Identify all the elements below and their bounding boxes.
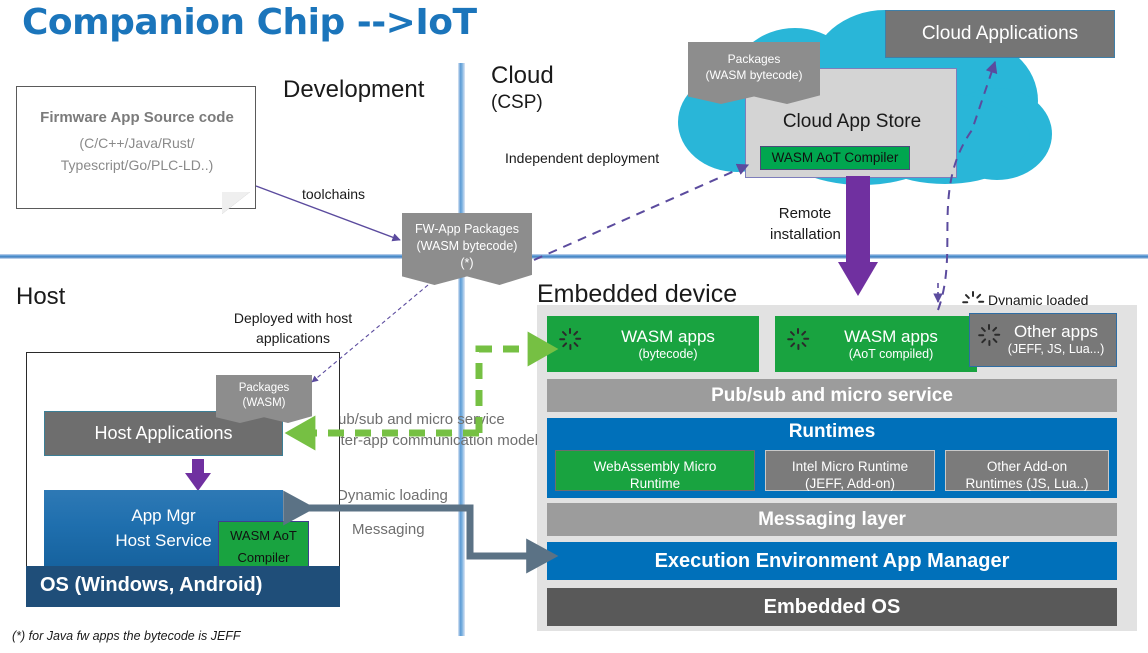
embedded-app-box-2[interactable]: Other apps (JEFF, JS, Lua...) (969, 313, 1117, 367)
section-label-cloud: Cloud (491, 62, 554, 90)
remote-installation-line2: installation (770, 226, 841, 243)
inter-app-communication-label: Inter-app communication models (328, 432, 546, 449)
section-label-cloud-sub: (CSP) (491, 92, 543, 114)
firmware-lang-line1: (C/C++/Java/Rust/ (79, 135, 194, 151)
toolchains-label: toolchains (302, 186, 365, 202)
runtime-1-line1: Intel Micro Runtime (792, 459, 908, 474)
runtime-2-line2: Runtimes (JS, Lua..) (965, 476, 1088, 491)
runtime-box-0[interactable]: WebAssembly Micro Runtime (555, 450, 755, 491)
fw-app-packages-line2: (WASM bytecode) (417, 239, 518, 253)
messaging-label: Messaging (352, 521, 425, 538)
footnote: (*) for Java fw apps the bytecode is JEF… (12, 629, 241, 643)
spinner-icon (787, 328, 809, 350)
section-label-development: Development (283, 76, 424, 104)
app-mgr-line2: Host Service (115, 531, 211, 550)
diagram-canvas: Companion Chip -->IoT Development Cloud … (0, 0, 1148, 653)
horizontal-divider (0, 254, 1148, 259)
host-wasm-aot-compiler-box[interactable]: WASM AoT Compiler (218, 521, 309, 569)
firmware-source-languages: (C/C++/Java/Rust/ Typescript/Go/PLC-LD..… (17, 132, 257, 176)
remote-installation-line1: Remote (779, 205, 832, 222)
spinner-icon (978, 324, 1000, 346)
embedded-device-stack: WASM apps (bytecode) WASM apps (AoT comp… (537, 305, 1137, 631)
cloud-packages-callout: Packages (WASM bytecode) (688, 42, 820, 104)
arrow-shaft (846, 176, 870, 264)
runtime-box-2[interactable]: Other Add-on Runtimes (JS, Lua..) (945, 450, 1109, 491)
host-aot-line1: WASM AoT (230, 528, 297, 543)
page-title: Companion Chip -->IoT (22, 2, 477, 43)
host-packages-line2: (WASM) (242, 397, 285, 409)
runtime-0-line2: Runtime (630, 476, 680, 491)
fw-app-packages-line3: (*) (460, 256, 473, 270)
deployed-line1: Deployed with host (234, 310, 352, 326)
cloud-packages-line2: (WASM bytecode) (706, 68, 803, 82)
vertical-divider (458, 63, 465, 636)
embedded-os-bar: Embedded OS (547, 588, 1117, 626)
firmware-lang-line2: Typescript/Go/PLC-LD..) (61, 157, 214, 173)
firmware-callout-tail (222, 192, 250, 214)
app-mgr-line1: App Mgr (131, 506, 195, 525)
fw-app-packages-text: FW-App Packages (WASM bytecode) (*) (402, 221, 532, 272)
runtimes-title: Runtimes (789, 421, 876, 442)
arrow-head (185, 473, 211, 491)
firmware-source-title: Firmware App Source code (17, 109, 257, 126)
independent-deployment-label: Independent deployment (505, 150, 659, 166)
host-os-bar: OS (Windows, Android) (26, 566, 340, 607)
cloud-packages-line1: Packages (728, 52, 781, 66)
cloud-applications-box[interactable]: Cloud Applications (885, 10, 1115, 58)
pubsub-micro-service-bar: Pub/sub and micro service (547, 379, 1117, 412)
cloud-wasm-aot-compiler-box[interactable]: WASM AoT Compiler (760, 146, 910, 170)
deployed-line2: applications (256, 330, 330, 346)
spinner-icon (559, 328, 581, 350)
runtime-0-line1: WebAssembly Micro (594, 459, 717, 474)
dynamic-loading-label: Dynamic loading (337, 487, 448, 504)
cloud-app-store-title: Cloud App Store (746, 111, 958, 133)
remote-installation-arrow (838, 176, 878, 298)
runtime-2-line1: Other Add-on (987, 459, 1067, 474)
pubsub-micro-service-label: Pub/sub and micro service (328, 411, 505, 428)
deployed-with-host-label: Deployed with host applications (218, 308, 368, 348)
host-packages-text: Packages (WASM) (216, 381, 312, 411)
fw-app-packages-line1: FW-App Packages (415, 222, 519, 236)
execution-env-app-manager-bar: Execution Environment App Manager (547, 542, 1117, 580)
remote-installation-label: Remote installation (770, 203, 840, 245)
embedded-app-box-1[interactable]: WASM apps (AoT compiled) (775, 316, 977, 372)
messaging-layer-bar: Messaging layer (547, 503, 1117, 536)
fw-app-packages-callout: FW-App Packages (WASM bytecode) (*) (402, 213, 532, 285)
embedded-app-box-0[interactable]: WASM apps (bytecode) (547, 316, 759, 372)
host-aot-line2: Compiler (237, 550, 289, 565)
host-down-arrow (185, 459, 211, 491)
runtime-box-1[interactable]: Intel Micro Runtime (JEFF, Add-on) (765, 450, 935, 491)
firmware-source-code-box[interactable]: Firmware App Source code (C/C++/Java/Rus… (16, 86, 256, 209)
cloud-packages-text: Packages (WASM bytecode) (688, 51, 820, 83)
host-packages-line1: Packages (239, 382, 290, 394)
section-label-host: Host (16, 283, 65, 311)
arrow-head (838, 262, 878, 296)
host-packages-callout: Packages (WASM) (216, 375, 312, 423)
runtime-1-line2: (JEFF, Add-on) (805, 476, 895, 491)
